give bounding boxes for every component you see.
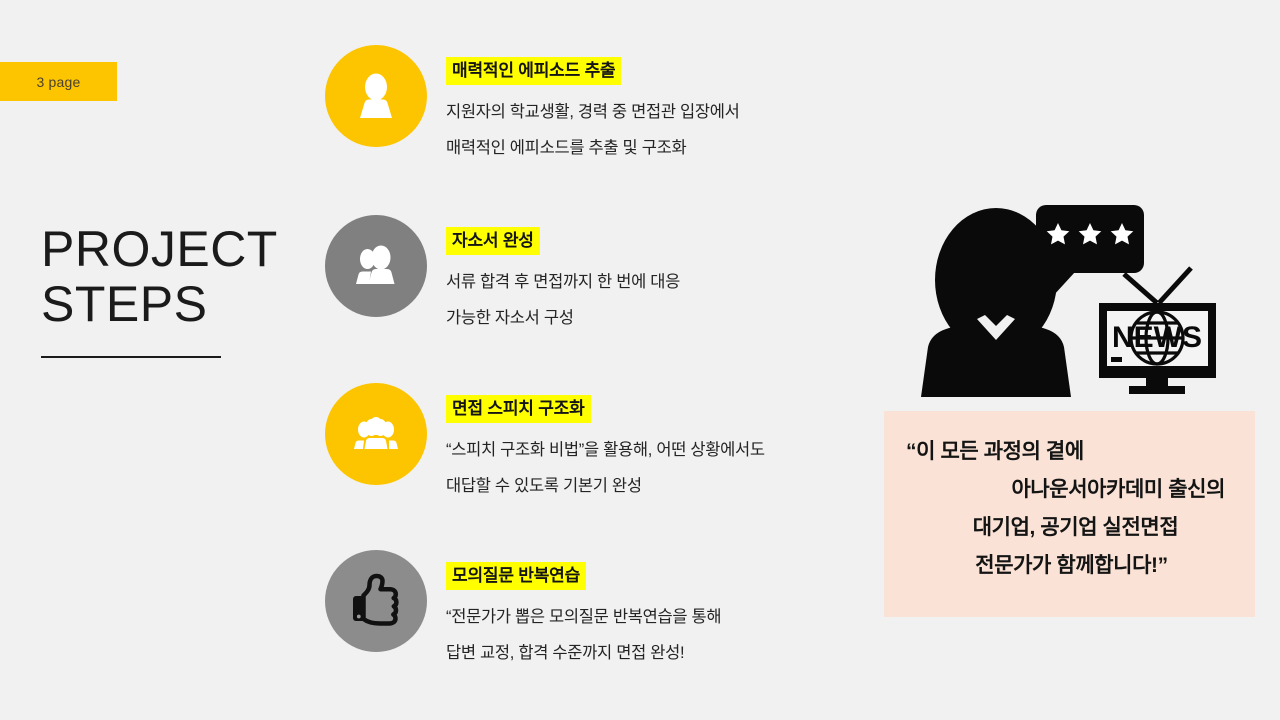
step-2-heading: 자소서 완성 — [446, 227, 540, 255]
thumbs-up-icon — [325, 550, 427, 652]
page-number-badge: 3 page — [0, 62, 117, 101]
quote-line-4: 전문가가 함께합니다!” — [906, 547, 1229, 585]
step-1-description-line-2: 매력적인 에피소드를 추출 및 구조화 — [446, 130, 886, 166]
step-3-heading: 면접 스피치 구조화 — [446, 395, 591, 423]
step-item-3: 면접 스피치 구조화 “스피치 구조화 비법”을 활용해, 어떤 상황에서도 대… — [325, 383, 885, 503]
step-2-body: 자소서 완성 서류 합격 후 면접까지 한 번에 대응 가능한 자소서 구성 — [446, 227, 886, 336]
page-title-line-2: STEPS — [41, 277, 341, 332]
step-3-body: 면접 스피치 구조화 “스피치 구조화 비법”을 활용해, 어떤 상황에서도 대… — [446, 395, 886, 504]
step-3-description: “스피치 구조화 비법”을 활용해, 어떤 상황에서도 대답할 수 있도록 기본… — [446, 432, 886, 504]
page-title: PROJECT STEPS — [41, 222, 341, 332]
step-2-description-line-1: 서류 합격 후 면접까지 한 번에 대응 — [446, 264, 886, 300]
page-title-line-1: PROJECT — [41, 222, 341, 277]
step-3-description-line-1: “스피치 구조화 비법”을 활용해, 어떤 상황에서도 — [446, 432, 886, 468]
quote-line-1: “이 모든 과정의 곁에 — [906, 433, 1229, 471]
two-people-icon — [325, 215, 427, 317]
step-4-description: “전문가가 뽑은 모의질문 반복연습을 통해 답변 교정, 합격 수준까지 면접… — [446, 599, 886, 671]
quote-line-3: 대기업, 공기업 실전면접 — [906, 509, 1229, 547]
step-1-description-line-1: 지원자의 학교생활, 경력 중 면접관 입장에서 — [446, 94, 886, 130]
step-2-description-line-2: 가능한 자소서 구성 — [446, 300, 886, 336]
step-4-heading: 모의질문 반복연습 — [446, 562, 586, 590]
tv-antenna — [1124, 268, 1191, 303]
person-icon — [325, 45, 427, 147]
step-item-1: 매력적인 에피소드 추출 지원자의 학교생활, 경력 중 면접관 입장에서 매력… — [325, 45, 885, 165]
quote-line-2: 아나운서아카데미 출신의 — [906, 471, 1229, 509]
news-anchor-illustration: NEWS — [903, 192, 1237, 397]
television-set: NEWS — [1099, 303, 1216, 394]
group-people-icon — [325, 383, 427, 485]
step-item-2: 자소서 완성 서류 합격 후 면접까지 한 번에 대응 가능한 자소서 구성 — [325, 215, 885, 335]
step-1-body: 매력적인 에피소드 추출 지원자의 학교생활, 경력 중 면접관 입장에서 매력… — [446, 57, 886, 166]
title-underline-divider — [41, 356, 221, 358]
step-2-description: 서류 합격 후 면접까지 한 번에 대응 가능한 자소서 구성 — [446, 264, 886, 336]
step-4-description-line-2: 답변 교정, 합격 수준까지 면접 완성! — [446, 635, 886, 671]
step-1-description: 지원자의 학교생활, 경력 중 면접관 입장에서 매력적인 에피소드를 추출 및… — [446, 94, 886, 166]
step-item-4: 모의질문 반복연습 “전문가가 뽑은 모의질문 반복연습을 통해 답변 교정, … — [325, 550, 885, 670]
step-4-body: 모의질문 반복연습 “전문가가 뽑은 모의질문 반복연습을 통해 답변 교정, … — [446, 562, 886, 671]
step-1-heading: 매력적인 에피소드 추출 — [446, 57, 621, 85]
step-3-description-line-2: 대답할 수 있도록 기본기 완성 — [446, 468, 886, 504]
quote-callout-box: “이 모든 과정의 곁에 아나운서아카데미 출신의 대기업, 공기업 실전면접 … — [884, 411, 1255, 617]
tv-screen-label: NEWS — [1112, 321, 1202, 354]
page-number-label: 3 page — [36, 74, 80, 90]
step-4-description-line-1: “전문가가 뽑은 모의질문 반복연습을 통해 — [446, 599, 886, 635]
